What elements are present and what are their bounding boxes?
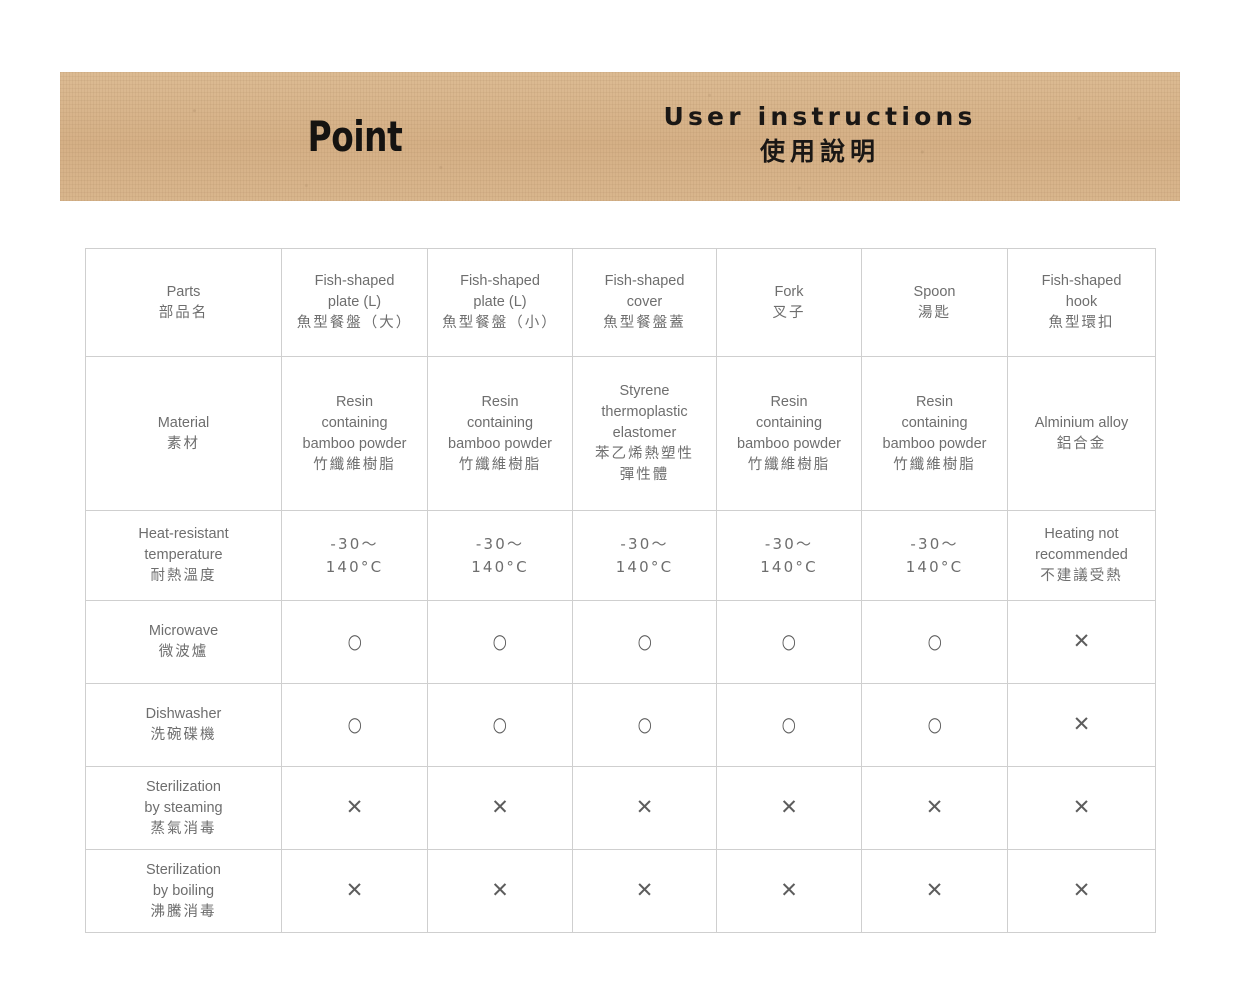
point-logo: Point [273,113,437,161]
boiling-cell-spoon: ✕ [862,850,1008,933]
steaming-cell-fork: ✕ [717,767,862,850]
dishwasher-cell-hook: ✕ [1008,684,1156,767]
temp-line1: -30〜 [430,533,570,556]
part-name-en-line1: Fish-shaped [1010,271,1153,292]
dishwasher-cell-cover: ○ [573,684,717,767]
temp-cell-hook: Heating not recommended 不建議受熱 [1008,511,1156,601]
row-label-microwave-en: Microwave [88,621,279,642]
row-label-material-zh: 素材 [88,434,279,455]
temp-cell-fork: -30〜 140°C [717,511,862,601]
row-label-sterilization-boiling: Sterilization by boiling 沸騰消毒 [86,850,282,933]
part-name-en-line2: plate (L) [430,292,570,313]
material-en-line1: Resin [284,392,425,413]
circle-mark-icon: ○ [782,713,796,735]
cross-mark-icon: ✕ [926,796,944,818]
circle-mark-icon: ○ [347,630,361,652]
row-label-steaming-en-line2: by steaming [88,798,279,819]
boiling-cell-plate-small: ✕ [428,850,573,933]
material-cell-plate-small: Resin containing bamboo powder 竹纖維樹脂 [428,357,573,511]
material-en-line3: bamboo powder [864,434,1005,455]
boiling-cell-cover: ✕ [573,850,717,933]
cross-mark-icon: ✕ [346,879,364,901]
cross-mark-icon: ✕ [780,879,798,901]
row-label-microwave: Microwave 微波爐 [86,601,282,684]
row-label-steaming-en-line1: Sterilization [88,777,279,798]
row-label-dishwasher-zh: 洗碗碟機 [88,725,279,746]
material-en-line3: bamboo powder [284,434,425,455]
circle-mark-icon: ○ [637,713,651,735]
material-en-line3: bamboo powder [719,434,859,455]
row-label-sterilization-steaming: Sterilization by steaming 蒸氣消毒 [86,767,282,850]
row-label-boiling-en-line1: Sterilization [88,860,279,881]
part-name-zh: 湯匙 [864,303,1005,324]
steaming-cell-cover: ✕ [573,767,717,850]
material-en-line1: Resin [430,392,570,413]
cross-mark-icon: ✕ [636,879,654,901]
cross-mark-icon: ✕ [491,796,509,818]
row-label-heat-resistant-temperature: Heat-resistant temperature 耐熱溫度 [86,511,282,601]
row-label-parts: Parts 部品名 [86,249,282,357]
row-label-steaming-zh: 蒸氣消毒 [88,819,279,840]
cross-mark-icon: ✕ [1073,713,1091,735]
steaming-cell-plate-large: ✕ [282,767,428,850]
part-name-zh: 魚型餐盤蓋 [575,313,714,334]
header-cell-plate-large: Fish-shaped plate (L) 魚型餐盤（大） [282,249,428,357]
table-row-heat-resistant-temperature: Heat-resistant temperature 耐熱溫度 -30〜 140… [86,511,1156,601]
part-name-zh: 魚型餐盤（小） [430,313,570,334]
material-cell-fork: Resin containing bamboo powder 竹纖維樹脂 [717,357,862,511]
material-zh-line2: 彈性體 [575,465,714,486]
material-en-line1: Styrene [575,381,714,402]
row-label-boiling-zh: 沸騰消毒 [88,902,279,923]
temp-cell-plate-small: -30〜 140°C [428,511,573,601]
microwave-cell-hook: ✕ [1008,601,1156,684]
row-label-parts-en: Parts [88,282,279,303]
part-name-en-line1: Fish-shaped [575,271,714,292]
material-en-line1: Resin [719,392,859,413]
temp-line2: 140°C [575,556,714,579]
table-row-parts: Parts 部品名 Fish-shaped plate (L) 魚型餐盤（大） … [86,249,1156,357]
row-label-microwave-zh: 微波爐 [88,642,279,663]
header-cell-fork: Fork 叉子 [717,249,862,357]
part-name-zh: 魚型餐盤（大） [284,313,425,334]
material-en-line1: Alminium alloy [1010,413,1153,434]
material-zh-line1: 竹纖維樹脂 [284,455,425,476]
temp-line1: -30〜 [284,533,425,556]
cross-mark-icon: ✕ [780,796,798,818]
steaming-cell-plate-small: ✕ [428,767,573,850]
boiling-cell-hook: ✕ [1008,850,1156,933]
circle-mark-icon: ○ [347,713,361,735]
specification-table: Parts 部品名 Fish-shaped plate (L) 魚型餐盤（大） … [85,248,1156,933]
material-cell-hook: Alminium alloy 鋁合金 [1008,357,1156,511]
material-zh-line1: 竹纖維樹脂 [864,455,1005,476]
part-name-zh: 魚型環扣 [1010,313,1153,334]
table-row-sterilization-boiling: Sterilization by boiling 沸騰消毒 ✕ ✕ ✕ ✕ ✕ … [86,850,1156,933]
material-zh-line1: 竹纖維樹脂 [719,455,859,476]
banner-title-chinese: 使用說明 [525,134,1115,170]
part-name-en-line1: Fish-shaped [430,271,570,292]
header-banner: Point User instructions 使用說明 [60,72,1180,201]
material-zh-line1: 鋁合金 [1010,434,1153,455]
circle-mark-icon: ○ [493,630,507,652]
boiling-cell-plate-large: ✕ [282,850,428,933]
temp-line2: 140°C [864,556,1005,579]
cross-mark-icon: ✕ [636,796,654,818]
material-zh-line1: 苯乙烯熱塑性 [575,444,714,465]
temp-cell-plate-large: -30〜 140°C [282,511,428,601]
steaming-cell-hook: ✕ [1008,767,1156,850]
cross-mark-icon: ✕ [1073,630,1091,652]
circle-mark-icon: ○ [927,630,941,652]
cross-mark-icon: ✕ [1073,879,1091,901]
circle-mark-icon: ○ [927,713,941,735]
cross-mark-icon: ✕ [491,879,509,901]
temp-cell-cover: -30〜 140°C [573,511,717,601]
part-name-zh: 叉子 [719,303,859,324]
material-en-line2: containing [430,413,570,434]
temp-line1: -30〜 [864,533,1005,556]
material-en-line2: containing [284,413,425,434]
dishwasher-cell-plate-large: ○ [282,684,428,767]
row-label-material: Material 素材 [86,357,282,511]
part-name-en-line2: hook [1010,292,1153,313]
row-label-dishwasher: Dishwasher 洗碗碟機 [86,684,282,767]
material-en-line2: containing [864,413,1005,434]
material-zh-line1: 竹纖維樹脂 [430,455,570,476]
material-en-line2: containing [719,413,859,434]
material-cell-plate-large: Resin containing bamboo powder 竹纖維樹脂 [282,357,428,511]
part-name-en-line2: cover [575,292,714,313]
temp-line2: 140°C [430,556,570,579]
header-cell-spoon: Spoon 湯匙 [862,249,1008,357]
cross-mark-icon: ✕ [926,879,944,901]
banner-title-english: User instructions [525,100,1115,134]
temp-line2: 140°C [719,556,859,579]
material-en-line1: Resin [864,392,1005,413]
table-row-microwave: Microwave 微波爐 ○ ○ ○ ○ ○ ✕ [86,601,1156,684]
row-label-temp-en-line1: Heat-resistant [88,524,279,545]
header-cell-hook: Fish-shaped hook 魚型環扣 [1008,249,1156,357]
header-cell-cover: Fish-shaped cover 魚型餐盤蓋 [573,249,717,357]
temp-line1: -30〜 [719,533,859,556]
banner-heading: User instructions 使用說明 [525,100,1115,170]
part-name-en-line1: Fork [719,282,859,303]
circle-mark-icon: ○ [637,630,651,652]
row-label-material-en: Material [88,413,279,434]
material-en-line2: thermoplastic [575,402,714,423]
microwave-cell-fork: ○ [717,601,862,684]
boiling-cell-fork: ✕ [717,850,862,933]
dishwasher-cell-fork: ○ [717,684,862,767]
circle-mark-icon: ○ [782,630,796,652]
row-label-temp-zh: 耐熱溫度 [88,566,279,587]
header-cell-plate-small: Fish-shaped plate (L) 魚型餐盤（小） [428,249,573,357]
cross-mark-icon: ✕ [1073,796,1091,818]
row-label-dishwasher-en: Dishwasher [88,704,279,725]
row-label-parts-zh: 部品名 [88,303,279,324]
microwave-cell-spoon: ○ [862,601,1008,684]
material-en-line3: bamboo powder [430,434,570,455]
temp-line2: recommended [1010,545,1153,566]
cross-mark-icon: ✕ [346,796,364,818]
temp-cell-spoon: -30〜 140°C [862,511,1008,601]
material-cell-spoon: Resin containing bamboo powder 竹纖維樹脂 [862,357,1008,511]
dishwasher-cell-spoon: ○ [862,684,1008,767]
microwave-cell-plate-small: ○ [428,601,573,684]
table-row-dishwasher: Dishwasher 洗碗碟機 ○ ○ ○ ○ ○ ✕ [86,684,1156,767]
steaming-cell-spoon: ✕ [862,767,1008,850]
table-row-sterilization-steaming: Sterilization by steaming 蒸氣消毒 ✕ ✕ ✕ ✕ ✕… [86,767,1156,850]
table-row-material: Material 素材 Resin containing bamboo powd… [86,357,1156,511]
material-cell-cover: Styrene thermoplastic elastomer 苯乙烯熱塑性 彈… [573,357,717,511]
temp-zh: 不建議受熱 [1010,566,1153,587]
microwave-cell-cover: ○ [573,601,717,684]
material-en-line3: elastomer [575,423,714,444]
microwave-cell-plate-large: ○ [282,601,428,684]
part-name-en-line2: plate (L) [284,292,425,313]
temp-line1: -30〜 [575,533,714,556]
row-label-temp-en-line2: temperature [88,545,279,566]
part-name-en-line1: Fish-shaped [284,271,425,292]
temp-line2: 140°C [284,556,425,579]
part-name-en-line1: Spoon [864,282,1005,303]
circle-mark-icon: ○ [493,713,507,735]
temp-line1: Heating not [1010,524,1153,545]
row-label-boiling-en-line2: by boiling [88,881,279,902]
dishwasher-cell-plate-small: ○ [428,684,573,767]
